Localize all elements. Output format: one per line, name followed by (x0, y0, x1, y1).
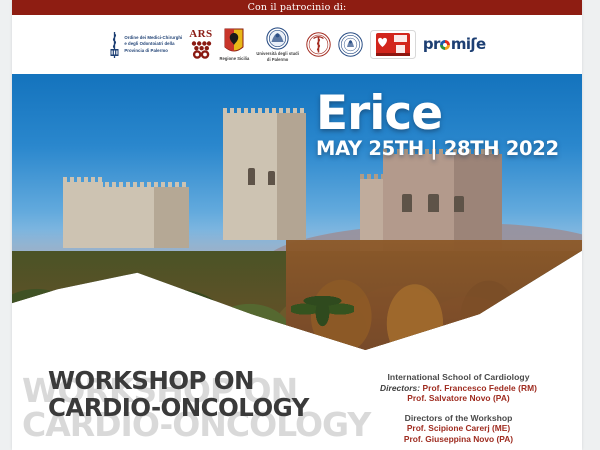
patronage-label: Con il patrocinio di: (248, 3, 347, 13)
sponsor-logo-strip: Ordine dei Medici-Chirurghi e degli Odon… (12, 15, 582, 74)
logo-ordine-text: Ordine dei Medici-Chirurghi e degli Odon… (124, 35, 182, 54)
university-seal-icon (266, 27, 289, 50)
promise-wordmark: prmiʃe (423, 37, 486, 52)
headline-line-2: CARDIO-ONCOLOGY (48, 393, 309, 422)
hero-photo-clip (12, 74, 582, 350)
hero-photo-band (12, 74, 582, 350)
credits-director-2: Prof. Salvatore Novo (PA) (351, 393, 566, 404)
castle-keep (223, 113, 306, 240)
sicily-shield-icon (224, 28, 244, 55)
patronage-bar: Con il patrocinio di: (12, 0, 582, 15)
workshop-title-wrap: WORKSHOP ON CARDIO-ONCOLOGY WORKSHOP ON … (34, 368, 379, 446)
ars-wordmark: ARS (189, 29, 212, 39)
logo-ars: ARS (189, 29, 212, 59)
ordine-line-2: e degli Odontoiatri della (124, 41, 174, 46)
credits-spacer (351, 404, 566, 412)
workshop-title: WORKSHOP ON CARDIO-ONCOLOGY (48, 368, 309, 422)
credits-workshop-heading: Directors of the Workshop (351, 413, 566, 424)
bottom-section: WORKSHOP ON CARDIO-ONCOLOGY WORKSHOP ON … (12, 350, 582, 450)
logo-policlinico-giaccone (338, 32, 363, 57)
policlinico-seal-icon (338, 32, 363, 57)
credits-director-1-row: Directors: Prof. Francesco Fedele (RM) (351, 383, 566, 394)
credits-directors-label: Directors: (380, 383, 420, 393)
poster-root: Con il patrocinio di: Ordine dei Medici-… (0, 0, 600, 450)
right-window-1 (402, 194, 413, 212)
credits-workshop-director-2: Prof. Giuseppina Novo (PA) (351, 434, 566, 445)
credits-block: International School of Cardiology Direc… (351, 372, 566, 444)
logo-ordine-medici: Ordine dei Medici-Chirurghi e degli Odon… (108, 30, 182, 60)
heart-card-icon (370, 30, 416, 59)
promise-text-mise: miʃe (451, 37, 486, 52)
logo-regione-sicilia: Regione Sicilia (220, 28, 250, 61)
logo-universita-palermo: Università degli studidi Palermo (256, 27, 299, 61)
caduceus-seal-icon (306, 32, 331, 57)
right-window-2 (428, 194, 439, 212)
crenellation-left (63, 177, 103, 182)
regione-sicilia-caption: Regione Sicilia (220, 56, 250, 61)
keep-window-2 (268, 171, 275, 185)
castle-tower-right-big (383, 154, 503, 253)
credits-school: International School of Cardiology (351, 372, 566, 383)
right-window-3 (454, 196, 464, 212)
promise-text-pr: pr (423, 37, 440, 52)
logo-ordine-caduceo (306, 32, 331, 57)
logo-promise: prmiʃe (423, 37, 486, 52)
palm-tree (291, 287, 354, 334)
ars-emblem-icon (190, 40, 212, 60)
headline-line-1: WORKSHOP ON (48, 366, 254, 395)
ordine-line-1: Ordine dei Medici-Chirurghi (124, 35, 182, 40)
universita-palermo-caption: Università degli studidi Palermo (256, 51, 299, 61)
credits-director-1: Prof. Francesco Fedele (RM) (423, 383, 537, 393)
keep-window-1 (248, 168, 255, 185)
ordine-line-3: Provincia di Palermo (124, 48, 168, 53)
logo-cuore (370, 30, 416, 59)
credits-workshop-director-1: Prof. Scipione Carerj (ME) (351, 423, 566, 434)
castle-wall-shadow-face (154, 187, 189, 248)
castle-keep-shadow-face (277, 113, 305, 240)
asclepius-rod-icon (108, 30, 121, 60)
promise-circle-icon (440, 40, 450, 50)
castle-wall (63, 187, 188, 248)
